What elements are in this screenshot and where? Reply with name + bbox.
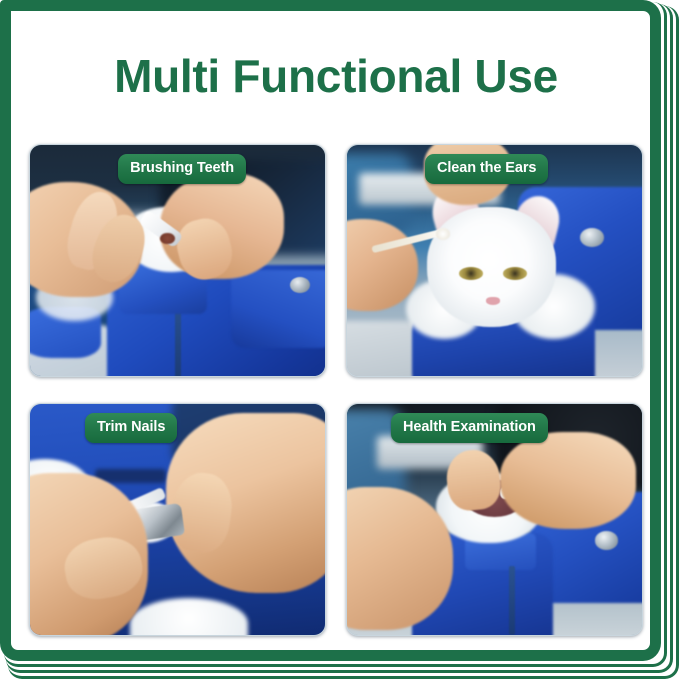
panel-label-health-examination: Health Examination: [391, 413, 548, 443]
panel-label-brushing-teeth: Brushing Teeth: [118, 154, 246, 184]
feature-grid: Brushing Teeth: [29, 144, 643, 636]
page-title: Multi Functional Use: [11, 48, 661, 104]
infographic-poster: Multi Functional Use: [0, 0, 679, 679]
photo-trim-nails: [30, 404, 325, 635]
panel-label-clean-the-ears: Clean the Ears: [425, 154, 548, 184]
feature-card-health-examination[interactable]: Health Examination: [346, 403, 643, 636]
feature-card-trim-nails[interactable]: Trim Nails: [29, 403, 326, 636]
panel-label-trim-nails: Trim Nails: [85, 413, 177, 443]
feature-card-clean-the-ears[interactable]: Clean the Ears: [346, 144, 643, 377]
feature-card-brushing-teeth[interactable]: Brushing Teeth: [29, 144, 326, 377]
